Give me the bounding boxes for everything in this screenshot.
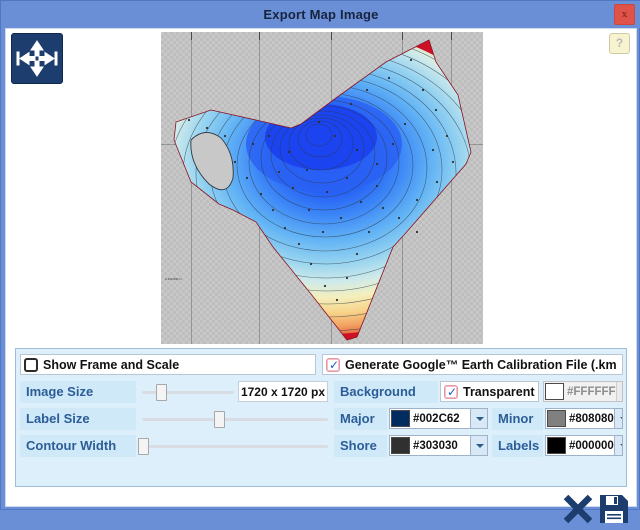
image-size-value: 1720 x 1720 px [238, 381, 328, 402]
chevron-down-icon[interactable] [470, 436, 487, 455]
labels-color-combo[interactable]: #000000 [545, 435, 623, 456]
cancel-button[interactable] [562, 493, 594, 530]
slider-track [138, 445, 328, 448]
floppy-disk-save-icon [598, 493, 630, 525]
major-color-combo[interactable]: #002C62 [389, 408, 488, 429]
major-label: Major [334, 408, 387, 430]
major-color-swatch [391, 410, 410, 427]
contour-width-label: Contour Width [20, 435, 136, 457]
background-transparent-field[interactable]: ✓ Transparent [440, 381, 539, 402]
close-icon: x [615, 5, 634, 24]
chevron-down-icon[interactable] [470, 409, 487, 428]
show-frame-and-scale-checkbox[interactable] [24, 358, 38, 372]
show-frame-and-scale-field[interactable]: Show Frame and Scale [20, 354, 316, 375]
label-size-label: Label Size [20, 408, 136, 430]
map-canvas[interactable]: 0 400 800 m [161, 32, 483, 344]
chevron-down-icon[interactable] [616, 382, 623, 401]
background-color-combo[interactable]: #FFFFFF [543, 381, 623, 402]
minor-color-combo[interactable]: #808080 [545, 408, 623, 429]
close-x-icon [562, 493, 594, 525]
shore-label: Shore [334, 435, 387, 457]
map-preview-area: ? 0 400 800 m [6, 29, 636, 344]
export-map-image-window: Export Map Image x [0, 0, 640, 510]
background-transparent-checkbox[interactable]: ✓ [444, 385, 458, 399]
minor-color-hex: #808080 [569, 413, 614, 425]
image-size-label: Image Size [20, 381, 136, 403]
minor-label: Minor [492, 408, 543, 430]
google-earth-calibration-label: Generate Google™ Earth Calibration File … [345, 358, 617, 372]
check-mark-icon: ✓ [446, 385, 458, 399]
shore-color-swatch [391, 437, 410, 454]
chevron-down-icon[interactable] [614, 436, 623, 455]
chevron-down-icon[interactable] [614, 409, 623, 428]
move-arrows-icon [12, 34, 62, 83]
title-bar: Export Map Image x [1, 1, 640, 28]
google-earth-calibration-checkbox[interactable]: ✓ [326, 358, 340, 372]
bathymetry-contour-map [161, 32, 483, 344]
shore-color-hex: #303030 [413, 440, 470, 452]
labels-label: Labels [492, 435, 543, 457]
window-close-button[interactable]: x [614, 4, 635, 25]
save-button[interactable] [598, 493, 630, 530]
slider-track [142, 418, 328, 421]
window-client-area: ? 0 400 800 m [5, 28, 637, 507]
export-options-panel: Show Frame and Scale ✓ Generate Google™ … [15, 348, 627, 487]
labels-color-hex: #000000 [569, 440, 614, 452]
minor-color-swatch [547, 410, 566, 427]
labels-color-swatch [547, 437, 566, 454]
image-size-slider[interactable] [142, 381, 234, 403]
show-frame-and-scale-label: Show Frame and Scale [43, 358, 179, 372]
background-transparent-label: Transparent [463, 385, 535, 399]
shore-color-combo[interactable]: #303030 [389, 435, 488, 456]
window-title: Export Map Image [1, 1, 640, 28]
label-size-slider[interactable] [142, 408, 328, 430]
major-color-hex: #002C62 [413, 413, 470, 425]
pan-tool-button[interactable] [11, 33, 63, 84]
help-button[interactable]: ? [609, 33, 630, 54]
help-question-icon: ? [610, 34, 629, 53]
background-label: Background [334, 381, 438, 403]
slider-thumb[interactable] [138, 438, 149, 455]
slider-thumb[interactable] [214, 411, 225, 428]
background-color-swatch [545, 383, 564, 400]
background-color-hex: #FFFFFF [567, 386, 616, 398]
contour-width-slider[interactable] [138, 435, 328, 457]
slider-thumb[interactable] [156, 384, 167, 401]
google-earth-calibration-field[interactable]: ✓ Generate Google™ Earth Calibration Fil… [322, 354, 623, 375]
check-mark-icon: ✓ [328, 358, 340, 372]
